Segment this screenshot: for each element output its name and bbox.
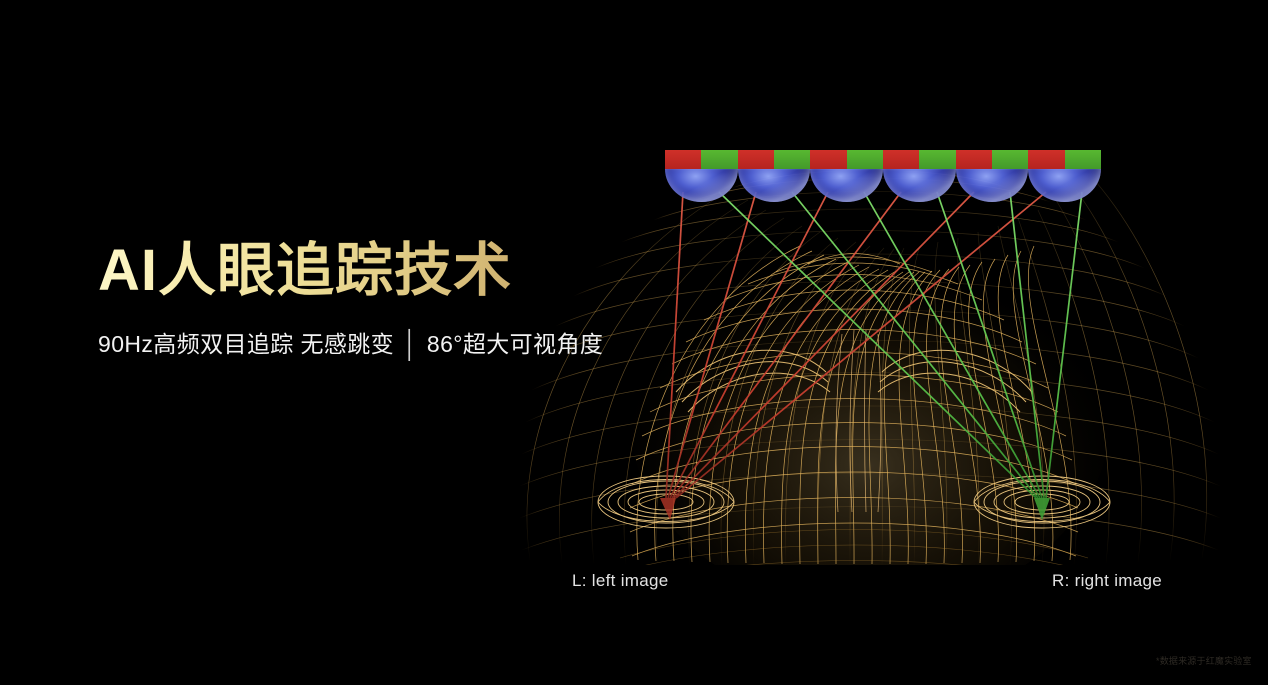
lens-unit	[738, 150, 811, 202]
lens-dome	[1028, 169, 1101, 202]
right-eye-convergence-point	[1034, 498, 1050, 520]
subtitle-part-2: 86°超大可视角度	[427, 331, 603, 357]
lens-dome	[810, 169, 883, 202]
lenticular-lens-array	[665, 150, 1101, 202]
caption-right-image: R: right image	[1052, 571, 1162, 591]
pixel-row	[665, 150, 738, 170]
subtitle-separator: │	[394, 329, 427, 360]
page-subtitle: 90Hz高频双目追踪 无感跳变│86°超大可视角度	[98, 325, 603, 359]
lens-dome	[665, 169, 738, 202]
green-subpixel	[701, 150, 737, 170]
caption-left-image: L: left image	[572, 571, 669, 591]
right-eye-rays	[719, 192, 1082, 498]
headline-block: AI人眼追踪技术 90Hz高频双目追踪 无感跳变│86°超大可视角度	[98, 240, 603, 359]
pixel-row	[883, 150, 956, 170]
red-subpixel	[956, 150, 992, 170]
green-subpixel	[919, 150, 955, 170]
slide-root: AI人眼追踪技术 90Hz高频双目追踪 无感跳变│86°超大可视角度 L: le…	[0, 0, 1268, 685]
subtitle-part-1: 90Hz高频双目追踪 无感跳变	[98, 331, 394, 357]
red-subpixel	[1028, 150, 1064, 170]
left-eye-convergence-point	[660, 498, 676, 520]
green-subpixel	[992, 150, 1028, 170]
lens-unit	[1028, 150, 1101, 202]
lens-unit	[665, 150, 738, 202]
pixel-row	[1028, 150, 1101, 170]
red-subpixel	[665, 150, 701, 170]
pixel-row	[738, 150, 811, 170]
green-subpixel	[847, 150, 883, 170]
lens-dome	[883, 169, 956, 202]
lens-dome	[738, 169, 811, 202]
page-title: AI人眼追踪技术	[98, 240, 603, 303]
pixel-row	[956, 150, 1029, 170]
red-subpixel	[883, 150, 919, 170]
red-subpixel	[738, 150, 774, 170]
pixel-row	[810, 150, 883, 170]
green-subpixel	[774, 150, 810, 170]
lens-unit	[956, 150, 1029, 202]
lens-dome	[956, 169, 1029, 202]
lens-unit	[810, 150, 883, 202]
lens-unit	[883, 150, 956, 202]
red-subpixel	[810, 150, 846, 170]
footnote-disclaimer: *数据来源于红魔实验室	[1156, 654, 1252, 667]
green-subpixel	[1065, 150, 1101, 170]
